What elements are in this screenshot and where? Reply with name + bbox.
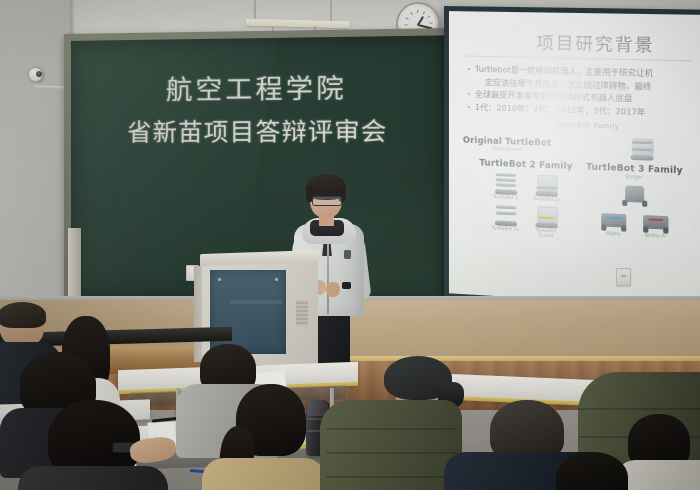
turtlebot-burger-image bbox=[622, 183, 647, 207]
family-heading: TurtleBot 2 Family bbox=[473, 158, 580, 172]
bot-item: TurtleBot 2e bbox=[490, 203, 520, 238]
bot-item: TurtleBot 2i bbox=[531, 173, 562, 203]
turtlebot-waffle-image bbox=[601, 208, 626, 232]
bot-item: Waffle Pi bbox=[639, 210, 671, 240]
bot-item bbox=[618, 183, 649, 207]
puffer-seam bbox=[326, 452, 456, 454]
presenter-right-hand bbox=[326, 282, 340, 297]
bot-caption: Waffle bbox=[598, 231, 629, 238]
wall-power-outlet-icon bbox=[616, 268, 631, 286]
attendee-hair bbox=[0, 302, 46, 328]
bot-caption: TurtleBot 2 bbox=[490, 195, 520, 201]
attendee-right-mid bbox=[556, 452, 636, 490]
bot-item: TurtleBot 2 bbox=[490, 172, 520, 202]
puffer-seam bbox=[326, 428, 456, 430]
bot-item: TurtleBot Euclid bbox=[531, 205, 562, 240]
attendee-body bbox=[202, 458, 326, 490]
turtlebot-waffle-pi-image bbox=[643, 210, 668, 234]
bot-caption: TurtleBot 2i bbox=[531, 197, 562, 203]
attendee-ponytail bbox=[218, 384, 318, 490]
bullet-marker bbox=[477, 77, 485, 88]
attendee-body bbox=[18, 466, 168, 490]
presenter-jacket-logo bbox=[344, 250, 351, 259]
turtlebot-2i-image bbox=[534, 174, 559, 197]
bullet-marker: • bbox=[467, 64, 475, 76]
original-turtlebot-row: Original TurtleBot Discontinued bbox=[463, 132, 696, 163]
slide-title: 项目研究背景 bbox=[497, 28, 696, 57]
bullet-marker: • bbox=[467, 89, 475, 101]
turtlebot-2-family: TurtleBot 2 Family TurtleBot 2 bbox=[473, 158, 580, 241]
turtlebot-2e-image bbox=[493, 203, 517, 226]
bot-item: Waffle bbox=[598, 208, 629, 238]
turtlebot-family-label: TurtleBot Family bbox=[481, 118, 696, 133]
puffer-seam bbox=[326, 476, 456, 478]
classroom-photo: 航空工程学院 省新苗项目答辩评审会 项目研究背景 • Turtlebot是一款移… bbox=[0, 0, 700, 490]
projection-screen: 项目研究背景 • Turtlebot是一款移动机器人，主要用于研究让机 定应该往… bbox=[444, 6, 700, 316]
attendee-hair bbox=[556, 452, 628, 490]
wristwatch-icon bbox=[342, 282, 351, 289]
turtlebot-2-image bbox=[493, 172, 517, 195]
presenter-jacket-zipper bbox=[327, 236, 329, 314]
bot-caption: TurtleBot Euclid bbox=[531, 228, 562, 240]
bullet-marker: • bbox=[467, 102, 475, 114]
turtlebot-3-family: TurtleBot 3 Family Burger bbox=[580, 162, 690, 246]
blackboard-line-1: 航空工程学院 bbox=[71, 67, 448, 108]
bot-caption: TurtleBot 2e bbox=[490, 226, 520, 233]
glasses-icon bbox=[312, 196, 342, 206]
turtlebot-euclid-image bbox=[534, 205, 559, 228]
bot-caption: Waffle Pi bbox=[639, 233, 671, 240]
slide-content: 项目研究背景 • Turtlebot是一款移动机器人，主要用于研究让机 定应该往… bbox=[449, 11, 700, 309]
puffer-seam bbox=[578, 408, 700, 410]
original-turtlebot-image bbox=[629, 137, 654, 161]
blackboard-line-2: 省新苗项目答辩评审会 bbox=[71, 111, 448, 148]
turtlebot-families: TurtleBot 2 Family TurtleBot 2 bbox=[473, 158, 690, 246]
